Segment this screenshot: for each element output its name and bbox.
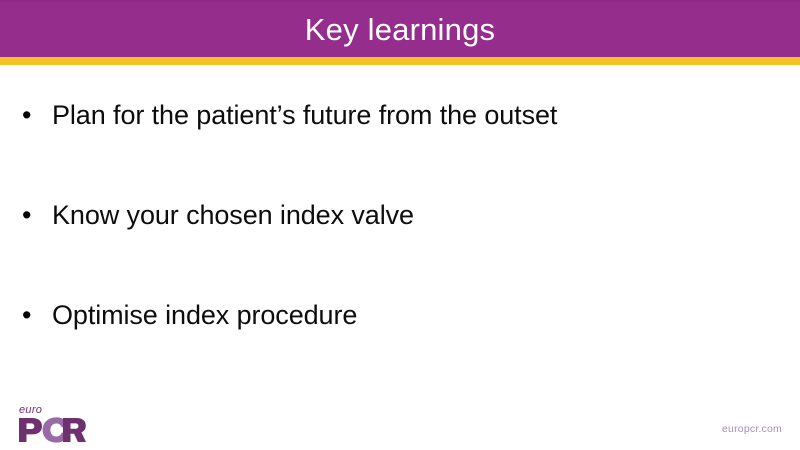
bullet-text: Know your chosen index valve	[52, 198, 800, 232]
website-url: europcr.com	[722, 424, 782, 435]
list-item: • Plan for the patient’s future from the…	[0, 98, 800, 198]
bullet-marker-icon: •	[22, 198, 52, 232]
list-item: • Optimise index procedure	[0, 298, 800, 398]
logo-euro-text: euro	[19, 405, 42, 416]
list-item: • Know your chosen index valve	[0, 198, 800, 298]
bullet-list: • Plan for the patient’s future from the…	[0, 98, 800, 398]
europcr-logo: euro	[18, 405, 88, 445]
page-title: Key learnings	[305, 14, 495, 45]
slide-canvas: Key learnings • Plan for the patient’s f…	[0, 0, 800, 450]
bullet-marker-icon: •	[22, 98, 52, 132]
bullet-marker-icon: •	[22, 298, 52, 332]
bullet-text: Plan for the patient’s future from the o…	[52, 98, 800, 132]
logo-pcr-mark	[18, 417, 86, 443]
slide-title-band: Key learnings	[0, 0, 800, 57]
bullet-text: Optimise index procedure	[52, 298, 800, 332]
accent-divider	[0, 57, 800, 65]
